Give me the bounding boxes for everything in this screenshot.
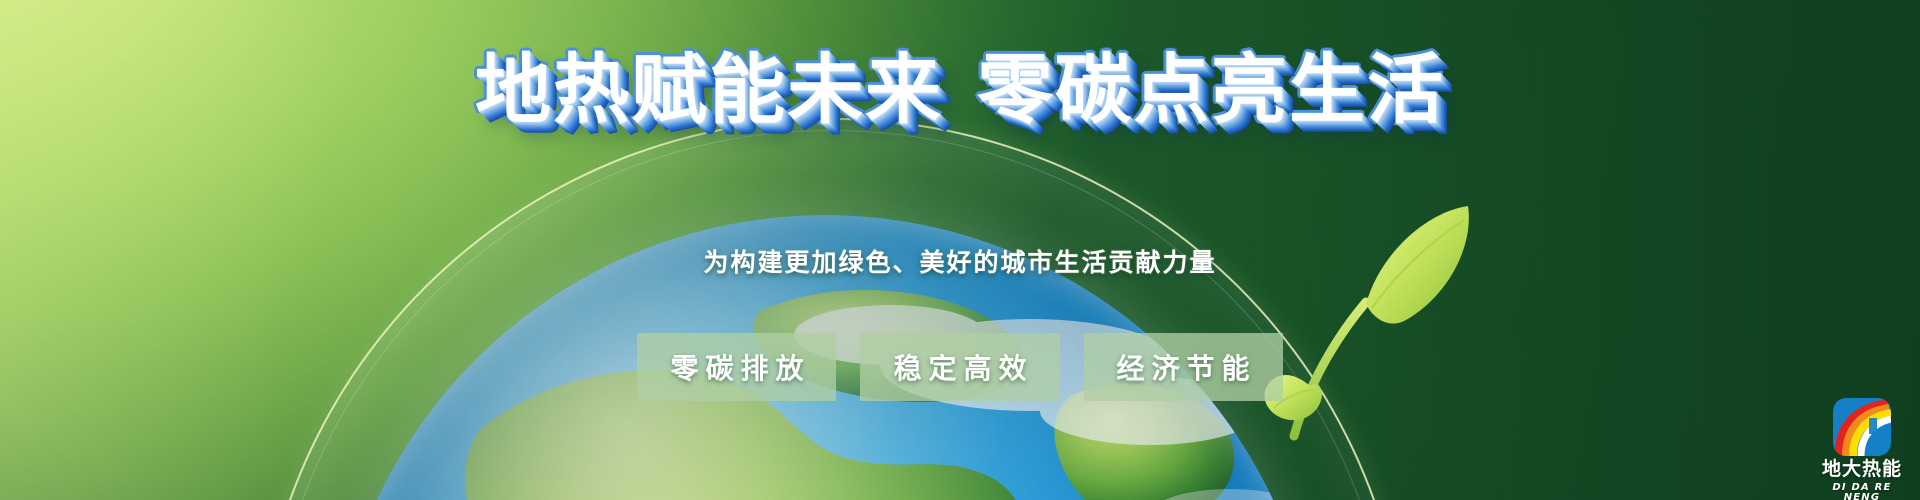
rainbow-swoosh-icon xyxy=(1833,398,1891,456)
green-sprout-icon xyxy=(1230,150,1490,450)
logo-name-en: DI DA RE NENG xyxy=(1812,483,1912,500)
title-part-2: 零碳点亮生活 xyxy=(977,45,1445,134)
brand-logo[interactable]: 地大热能 DI DA RE NENG xyxy=(1812,398,1912,500)
feature-badge-economical[interactable]: 经济节能 xyxy=(1084,333,1283,401)
logo-name-cn: 地大热能 xyxy=(1812,460,1912,479)
feature-badge-zero-carbon[interactable]: 零碳排放 xyxy=(637,333,836,401)
page-title: 地热赋能未来零碳点亮生活 xyxy=(0,52,1920,128)
page-subtitle: 为构建更加绿色、美好的城市生活贡献力量 xyxy=(0,243,1920,279)
hero-banner: 地热赋能未来零碳点亮生活 为构建更加绿色、美好的城市生活贡献力量 零碳排放 稳定… xyxy=(0,0,1920,500)
feature-badge-stable-efficient[interactable]: 稳定高效 xyxy=(860,333,1059,401)
title-part-1: 地热赋能未来 xyxy=(475,45,943,134)
feature-badge-list: 零碳排放 稳定高效 经济节能 xyxy=(0,333,1920,401)
